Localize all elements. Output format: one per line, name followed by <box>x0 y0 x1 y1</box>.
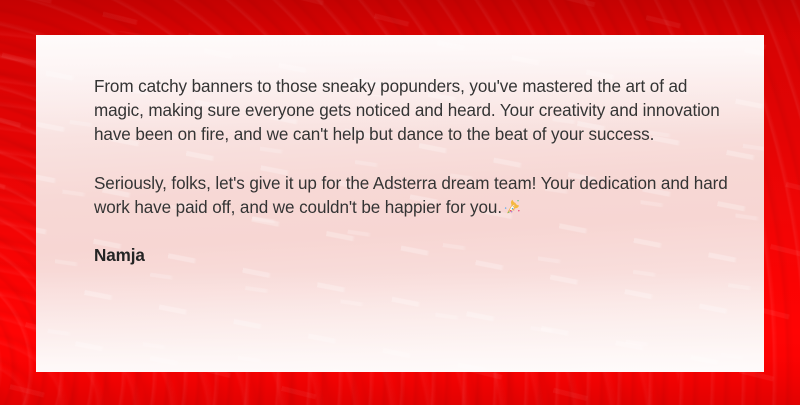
paragraph-2: Seriously, folks, let's give it up for t… <box>94 172 730 220</box>
signature: Namja <box>94 244 730 268</box>
confetti-ball-icon <box>503 197 522 216</box>
paragraph-1: From catchy banners to those sneaky popu… <box>94 75 730 148</box>
card-content: From catchy banners to those sneaky popu… <box>94 75 730 269</box>
paragraph-2-text: Seriously, folks, let's give it up for t… <box>94 174 728 217</box>
message-card: From catchy banners to those sneaky popu… <box>36 35 764 372</box>
slide-canvas: From catchy banners to those sneaky popu… <box>0 0 800 405</box>
